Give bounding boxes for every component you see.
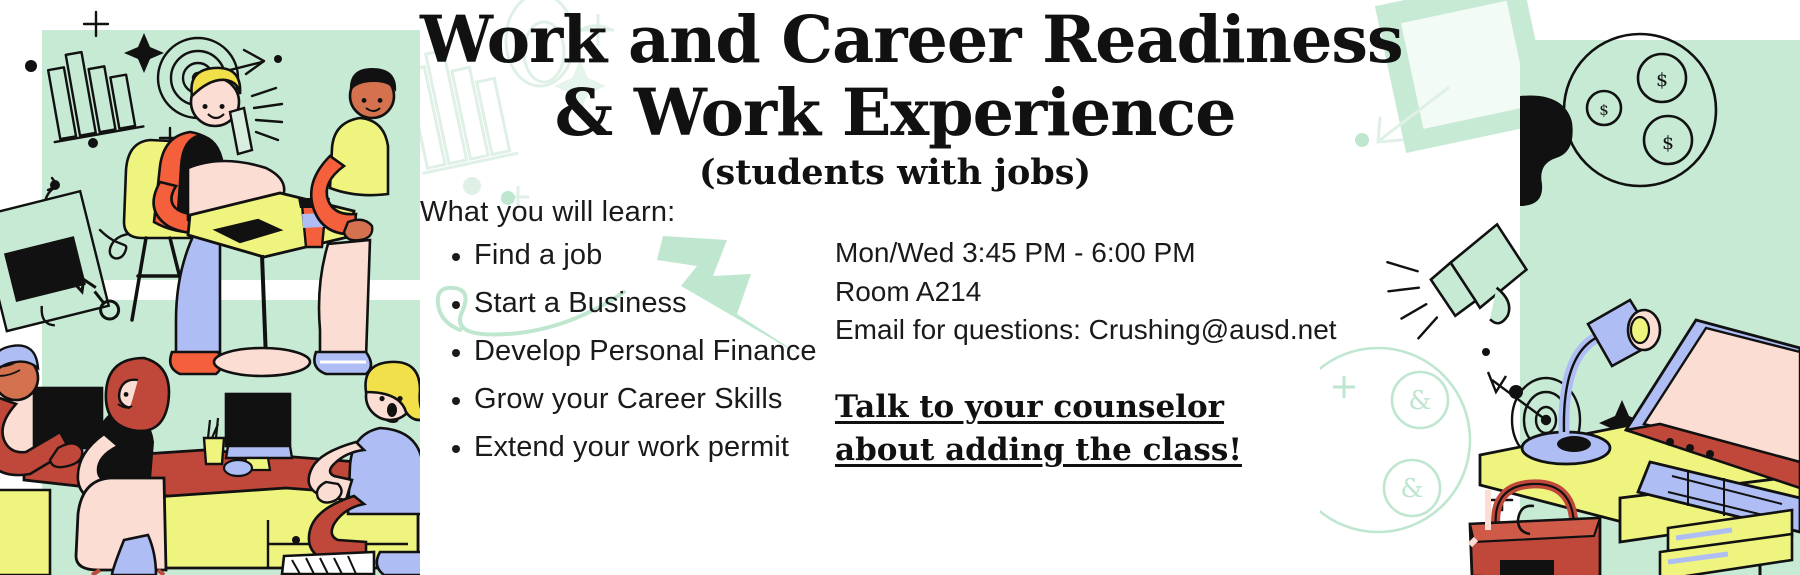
list-item: Start a Business <box>420 287 850 320</box>
call-to-action: Talk to your counselor about adding the … <box>835 386 1365 472</box>
title-block: Work and Career Readiness & Work Experie… <box>420 8 1370 193</box>
svg-text:$: $ <box>1656 69 1668 91</box>
svg-text:&: & <box>1400 474 1423 504</box>
learn-column: What you will learn: Find a job Start a … <box>420 196 850 479</box>
title-subtitle: (students with jobs) <box>420 152 1370 193</box>
center-content: Work and Career Readiness & Work Experie… <box>420 0 1370 575</box>
learn-heading: What you will learn: <box>420 196 850 229</box>
list-item: Find a job <box>420 239 850 272</box>
title-line-1: Work and Career Readiness <box>420 8 1370 73</box>
flyer-canvas: $ $ $ <box>0 0 1800 575</box>
svg-text:$: $ <box>1662 132 1674 154</box>
cta-line-2: about adding the class! <box>835 429 1365 472</box>
email-text: Email for questions: Crushing@ausd.net <box>835 311 1365 350</box>
right-illustration: $ $ $ <box>1320 0 1800 575</box>
schedule-text: Mon/Wed 3:45 PM - 6:00 PM <box>835 234 1365 273</box>
list-item: Extend your work permit <box>420 431 850 464</box>
learn-list: Find a job Start a Business Develop Pers… <box>420 239 850 464</box>
svg-text:&: & <box>1408 386 1431 416</box>
left-illustration <box>0 0 420 575</box>
room-text: Room A214 <box>835 273 1365 312</box>
info-column: Mon/Wed 3:45 PM - 6:00 PM Room A214 Emai… <box>835 234 1365 471</box>
svg-text:$: $ <box>1599 101 1609 119</box>
title-line-2: & Work Experience <box>420 81 1370 146</box>
list-item: Grow your Career Skills <box>420 383 850 416</box>
cta-line-1: Talk to your counselor <box>835 386 1365 429</box>
list-item: Develop Personal Finance <box>420 335 850 368</box>
